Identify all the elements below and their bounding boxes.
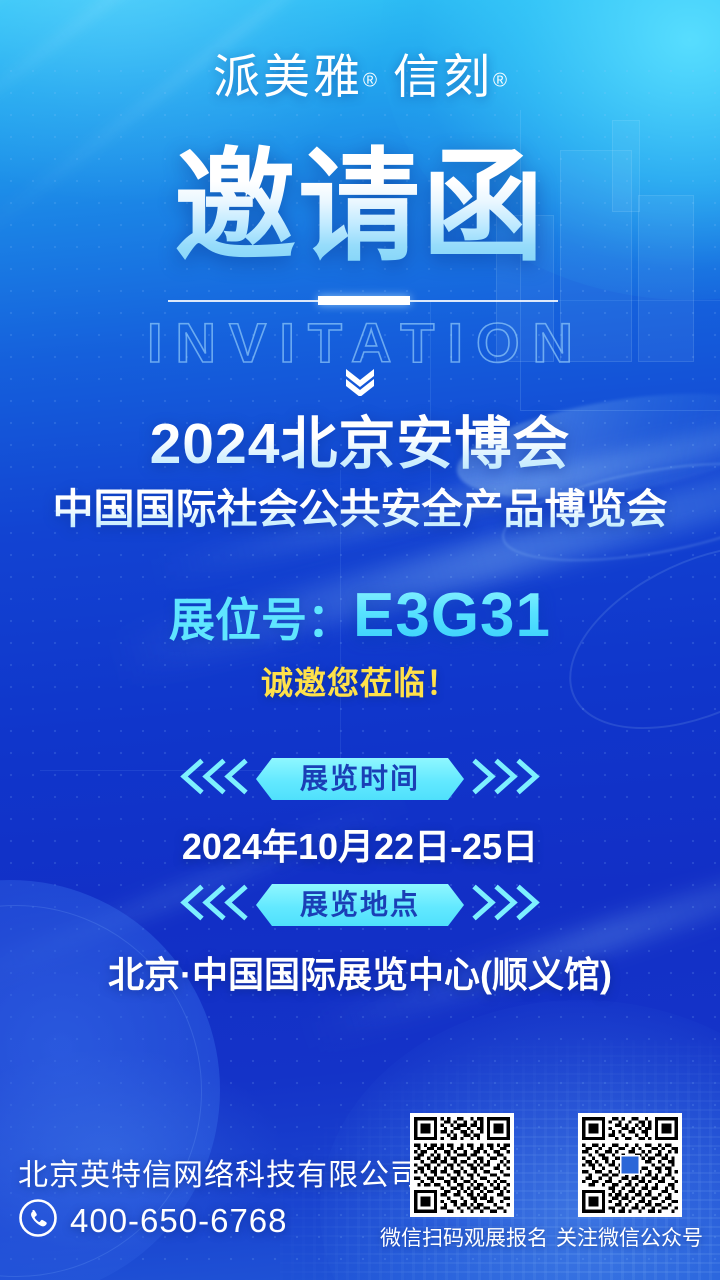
chevron-right-decoration-icon — [468, 759, 540, 800]
brand-primary-text: 派美雅 — [213, 52, 363, 104]
qr-caption-registration: 微信扫码观展报名 — [380, 1222, 548, 1252]
booth-number: E3G31 — [353, 581, 551, 650]
registered-mark-icon: ® — [493, 71, 507, 92]
chevron-left-decoration-icon — [180, 759, 252, 800]
chevron-double-down-icon — [0, 366, 720, 401]
qr-caption-wechat-official: 关注微信公众号 — [556, 1222, 703, 1252]
phone-icon — [18, 1198, 58, 1243]
welcome-message: 诚邀您莅临！ — [0, 658, 720, 704]
qr-code-wechat-official[interactable] — [578, 1113, 682, 1217]
exhibition-place-badge: 展览地点 — [256, 884, 464, 926]
chevron-left-decoration-icon — [180, 885, 252, 926]
brand-secondary-text: 信刻 — [393, 52, 493, 104]
event-name: 2024北京安博会 — [0, 398, 720, 480]
chevron-right-decoration-icon — [468, 885, 540, 926]
company-name: 北京英特信网络科技有限公司 — [18, 1150, 421, 1194]
qr-code-registration[interactable] — [410, 1113, 514, 1217]
title-divider-accent — [318, 296, 410, 305]
page-title: 邀请函 — [0, 143, 720, 271]
exhibition-place-value: 北京·中国国际展览中心(顺义馆) — [0, 946, 720, 998]
exhibition-time-badge-row: 展览时间 — [0, 758, 720, 800]
exhibition-time-badge: 展览时间 — [256, 758, 464, 800]
brand-logo: 派美雅®信刻® — [0, 38, 720, 107]
invitation-poster: 派美雅®信刻® 邀请函 INVITATION 2024北京安博会 中国国际社会公… — [0, 0, 720, 1280]
exhibition-place-badge-row: 展览地点 — [0, 884, 720, 926]
booth-label: 展位号： — [169, 594, 353, 646]
exhibition-time-value: 2024年10月22日-25日 — [0, 818, 720, 870]
page-title-text: 邀请函 — [174, 143, 546, 271]
contact-phone-row[interactable]: 400-650-6768 — [18, 1198, 288, 1243]
phone-number: 400-650-6768 — [70, 1202, 288, 1240]
event-full-name: 中国国际社会公共安全产品博览会 — [0, 475, 720, 535]
booth-number-row: 展位号：E3G31 — [0, 580, 720, 651]
registered-mark-icon: ® — [363, 71, 377, 92]
